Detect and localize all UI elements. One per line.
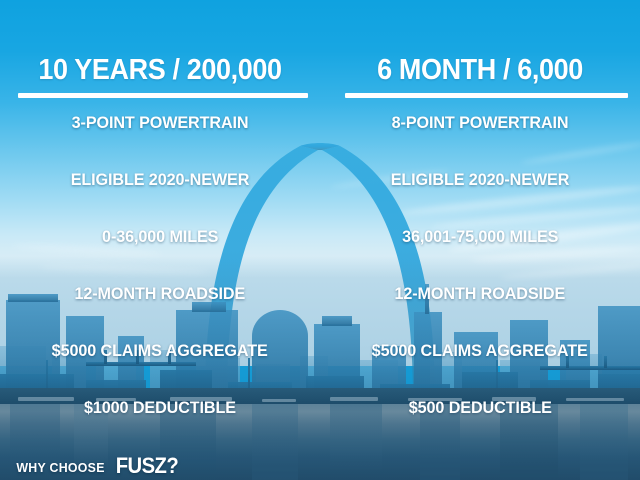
plan-column-ten-year: 10 YEARS / 200,000 3-POINT POWERTRAIN EL… xyxy=(0,0,320,480)
plan-feature-list: 8-POINT POWERTRAIN ELIGIBLE 2020-NEWER 3… xyxy=(320,112,640,454)
brand-logo: WHY CHOOSE FUSZ? xyxy=(14,452,181,478)
plan-feature-list: 3-POINT POWERTRAIN ELIGIBLE 2020-NEWER 0… xyxy=(0,112,320,454)
feature-text: 12-MONTH ROADSIDE xyxy=(75,283,246,305)
list-item: ELIGIBLE 2020-NEWER xyxy=(0,169,320,226)
plan-heading: 6 MONTH / 6,000 xyxy=(331,52,629,88)
list-item: $5000 CLAIMS AGGREGATE xyxy=(320,340,640,397)
plan-heading: 10 YEARS / 200,000 xyxy=(11,52,309,88)
feature-text: $5000 CLAIMS AGGREGATE xyxy=(372,340,588,362)
feature-text: $500 DEDUCTIBLE xyxy=(408,397,551,419)
list-item: $1000 DEDUCTIBLE xyxy=(0,397,320,454)
list-item: $5000 CLAIMS AGGREGATE xyxy=(0,340,320,397)
list-item: ELIGIBLE 2020-NEWER xyxy=(320,169,640,226)
list-item: 36,001-75,000 MILES xyxy=(320,226,640,283)
feature-text: 3-POINT POWERTRAIN xyxy=(72,112,249,134)
comparison-table: 10 YEARS / 200,000 3-POINT POWERTRAIN EL… xyxy=(0,0,640,480)
list-item: 3-POINT POWERTRAIN xyxy=(0,112,320,169)
feature-text: ELIGIBLE 2020-NEWER xyxy=(71,169,250,191)
logo-brand-name: FUSZ? xyxy=(116,453,178,479)
heading-underline xyxy=(345,93,628,98)
promo-graphic: 10 YEARS / 200,000 3-POINT POWERTRAIN EL… xyxy=(0,0,640,480)
heading-underline xyxy=(18,93,308,98)
feature-text: 36,001-75,000 MILES xyxy=(402,226,558,248)
feature-text: ELIGIBLE 2020-NEWER xyxy=(391,169,570,191)
list-item: 12-MONTH ROADSIDE xyxy=(0,283,320,340)
feature-text: 8-POINT POWERTRAIN xyxy=(392,112,569,134)
plan-column-six-month: 6 MONTH / 6,000 8-POINT POWERTRAIN ELIGI… xyxy=(320,0,640,480)
list-item: 12-MONTH ROADSIDE xyxy=(320,283,640,340)
list-item: 8-POINT POWERTRAIN xyxy=(320,112,640,169)
feature-text: $5000 CLAIMS AGGREGATE xyxy=(52,340,268,362)
logo-tagline: WHY CHOOSE xyxy=(16,460,104,475)
list-item: 0-36,000 MILES xyxy=(0,226,320,283)
list-item: $500 DEDUCTIBLE xyxy=(320,397,640,454)
feature-text: $1000 DEDUCTIBLE xyxy=(84,397,236,419)
feature-text: 12-MONTH ROADSIDE xyxy=(395,283,566,305)
feature-text: 0-36,000 MILES xyxy=(102,226,218,248)
